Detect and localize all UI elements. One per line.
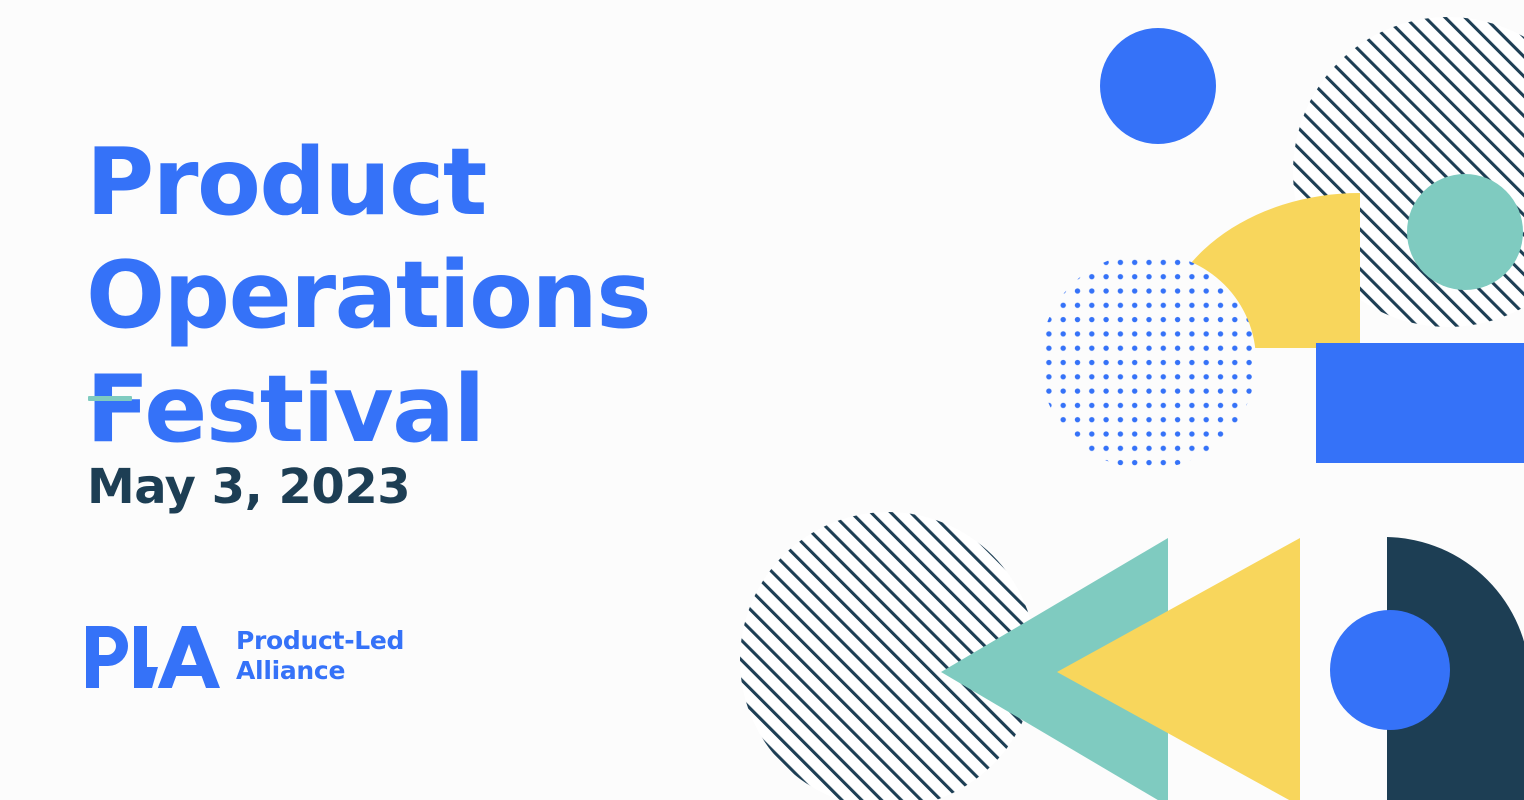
event-date: May 3, 2023 xyxy=(87,461,410,514)
pla-monogram-icon xyxy=(86,622,220,692)
banner-content: Product Operations Festival May 3, 2023 … xyxy=(0,0,1524,800)
event-banner: Product Operations Festival May 3, 2023 … xyxy=(0,0,1524,800)
pla-wordmark: Product-Led Alliance xyxy=(236,626,404,689)
page-title: Product Operations Festival xyxy=(86,126,1046,466)
pla-logo[interactable]: Product-Led Alliance PLA xyxy=(86,622,404,692)
divider-rule xyxy=(88,396,132,401)
